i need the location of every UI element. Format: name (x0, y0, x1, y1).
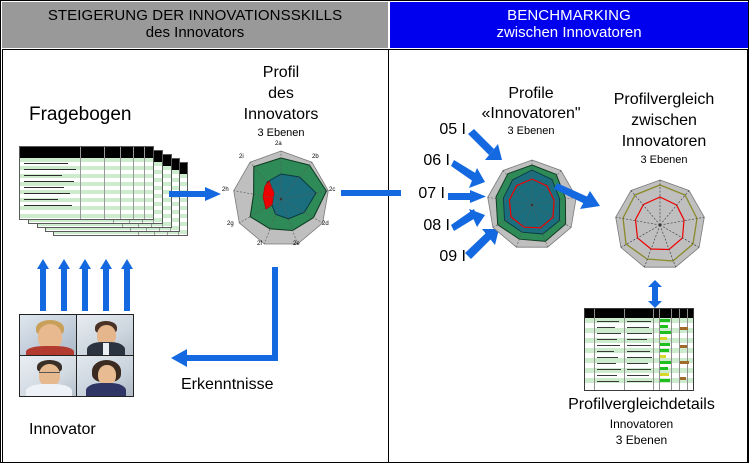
comparison-title-line3: Innovatoren (589, 133, 739, 151)
profile-title-line1: Profil (216, 64, 346, 82)
header-left-line1: STEIGERUNG DER INNOVATIONSSKILLS (48, 8, 342, 25)
radar-axis-label: 2a (275, 141, 282, 147)
innovator-photo (20, 356, 76, 396)
innovator-photo (77, 315, 133, 355)
header-left: STEIGERUNG DER INNOVATIONSSKILLS des Inn… (2, 2, 388, 48)
profile-title-line2: des (216, 85, 346, 103)
questionnaire-stack (19, 146, 194, 251)
profiles-title-line2: «Innovatoren" (461, 105, 601, 123)
radar-chart-comparison (605, 173, 715, 277)
profiles-title-sub: 3 Ebenen (471, 125, 591, 138)
arrow-innovator-to-questionnaire-3 (79, 259, 91, 311)
arrow-comparison-to-details (648, 280, 662, 308)
details-caption-line1: Profilvergleichdetails (544, 396, 739, 414)
arrow-feedback-erkenntnisse (171, 267, 286, 365)
comparison-title-line1: Profilvergleich (589, 91, 739, 109)
questionnaire-sheet-front (19, 146, 154, 220)
innovator-id-09: 09 I (410, 248, 466, 266)
header-right-line1: BENCHMARKING (507, 8, 631, 25)
radar-axis-label: 2b (312, 154, 319, 160)
comparison-title-line2: zwischen (589, 112, 739, 130)
innovator-id-08: 08 I (394, 217, 450, 235)
innovator-label: Innovator (29, 421, 159, 439)
arrow-profiles-to-comparison (554, 187, 600, 213)
diagram-canvas: STEIGERUNG DER INNOVATIONSSKILLS des Inn… (0, 0, 749, 463)
details-caption-line2: Innovatoren (544, 418, 739, 432)
innovator-photo (20, 315, 76, 355)
header-left-line2: des Innovators (146, 25, 244, 42)
erkenntnisse-label: Erkenntnisse (181, 376, 321, 394)
arrow-innovator-to-questionnaire-4 (100, 259, 112, 311)
innovator-photo-grid (19, 314, 134, 397)
profile-title-sub: 3 Ebenen (216, 127, 346, 140)
arrow-innovator-to-questionnaire-1 (37, 259, 49, 311)
header-right: BENCHMARKING zwischen Innovatoren (390, 2, 748, 48)
radar-axis-label: 2c (329, 187, 335, 193)
arrow-innovator-to-questionnaire-2 (58, 259, 70, 311)
header-right-line2: zwischen Innovatoren (496, 25, 641, 42)
arrow-innovator-to-questionnaire-5 (121, 259, 133, 311)
radar-axis-label: 2i (239, 154, 244, 160)
comparison-details-table (584, 308, 694, 391)
details-caption-line3: 3 Ebenen (544, 434, 739, 448)
profile-title-line3: Innovators (216, 106, 346, 124)
panel-divider (388, 49, 389, 463)
arrow-questionnaire-to-profile (169, 187, 221, 201)
innovator-id-07: 07 I (389, 185, 445, 203)
radar-axis-label: 2e (293, 241, 300, 247)
radar-chart-profile: 2a 2b 2c 2d 2e 2f 2g 2h 2i (223, 141, 339, 253)
innovator-photo (77, 356, 133, 396)
radar-axis-label: 2h (222, 187, 229, 193)
radar-axis-label: 2d (322, 221, 329, 227)
innovator-id-05: 05 I (410, 121, 466, 139)
innovator-id-06: 06 I (394, 152, 450, 170)
comparison-title-sub: 3 Ebenen (589, 154, 739, 167)
profiles-title-line1: Profile (471, 85, 591, 103)
radar-axis-label: 2g (227, 221, 234, 227)
radar-axis-label: 2f (257, 241, 262, 247)
questionnaire-label: Fragebogen (29, 104, 169, 126)
